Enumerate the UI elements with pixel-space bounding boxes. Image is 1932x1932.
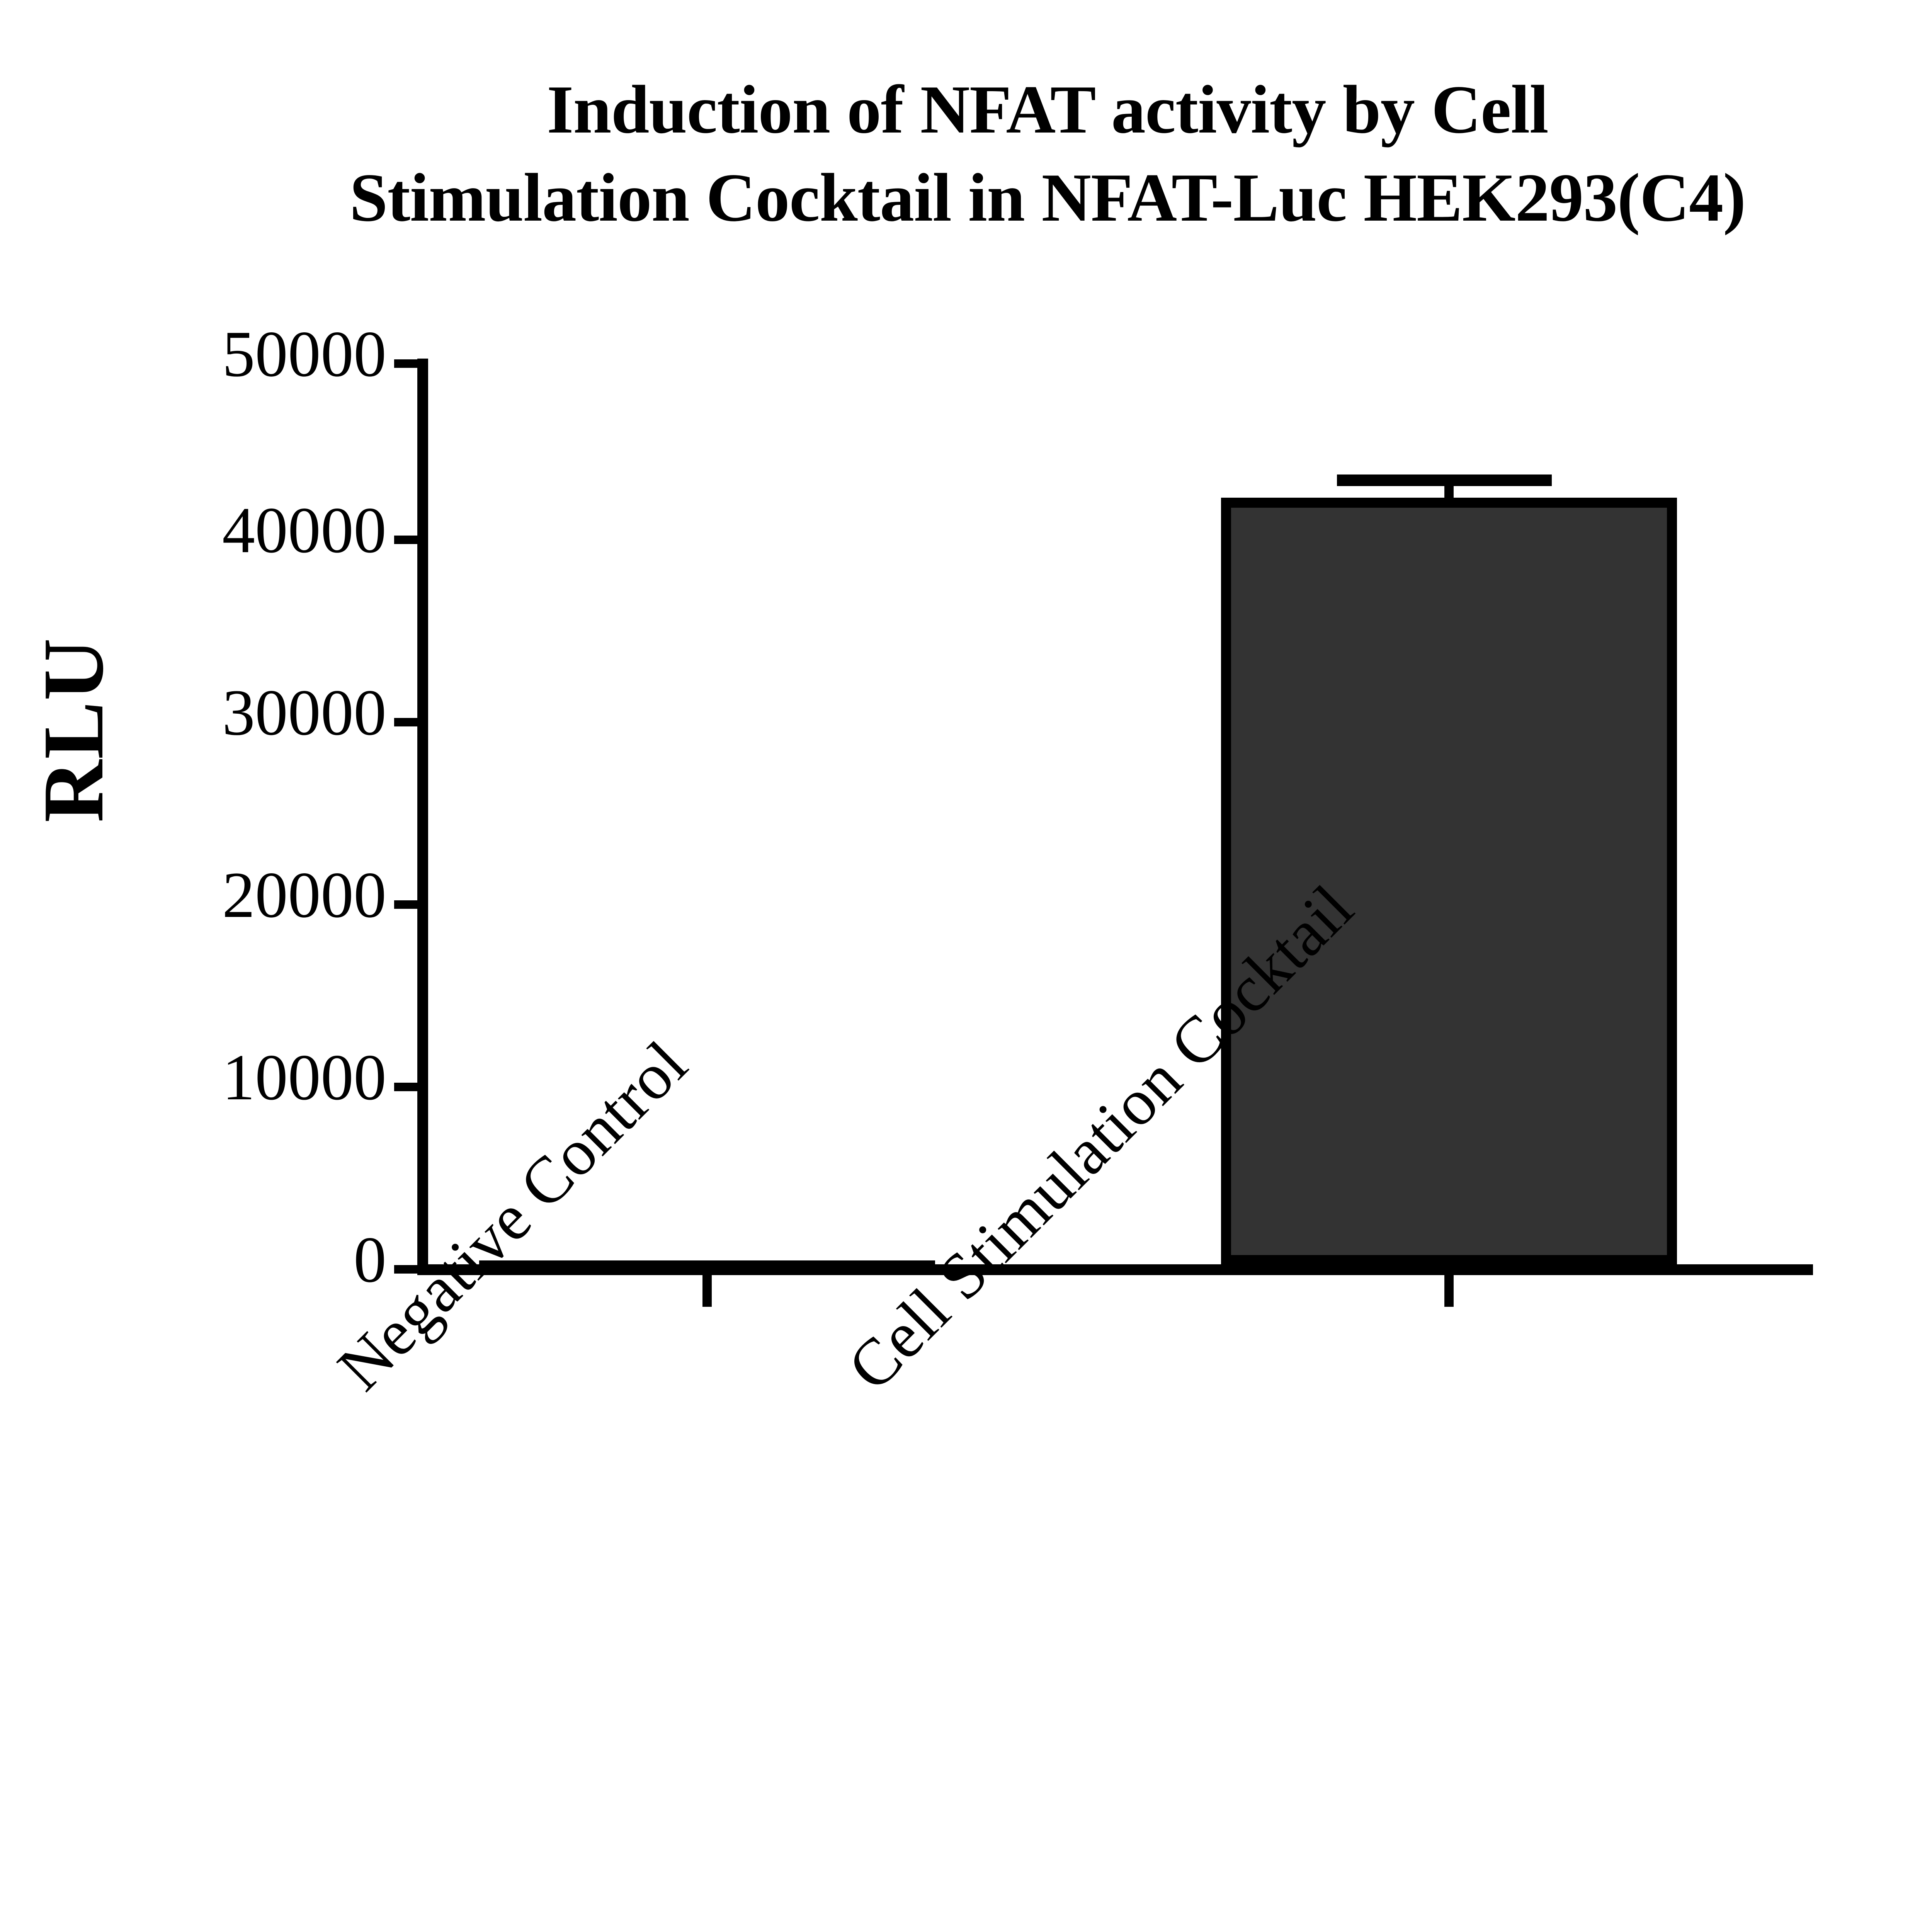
y-tick-label-30000: 30000 — [0, 680, 386, 745]
y-tick-50000 — [394, 359, 418, 368]
x-tick-negative-control — [702, 1274, 712, 1307]
y-tick-label-40000: 40000 — [0, 497, 386, 563]
y-tick-20000 — [394, 900, 418, 909]
x-axis-line — [417, 1264, 1813, 1275]
x-tick-cell-stimulation-cocktail — [1444, 1274, 1454, 1307]
y-tick-30000 — [394, 718, 418, 726]
error-bar-cap-cell-stimulation-cocktail — [1337, 474, 1552, 486]
y-tick-10000 — [394, 1083, 418, 1091]
plot-area: RLU 0 10000 20000 30000 40000 50000 Nega… — [0, 0, 1932, 1932]
y-tick-label-0: 0 — [0, 1227, 386, 1293]
bar-cell-stimulation-cocktail[interactable] — [1221, 498, 1677, 1265]
y-tick-40000 — [394, 536, 418, 544]
y-tick-label-20000: 20000 — [0, 862, 386, 928]
bar-negative-control[interactable] — [479, 1260, 935, 1265]
y-axis-line — [417, 359, 428, 1275]
y-tick-label-50000: 50000 — [0, 321, 386, 387]
y-tick-label-10000: 10000 — [0, 1044, 386, 1110]
